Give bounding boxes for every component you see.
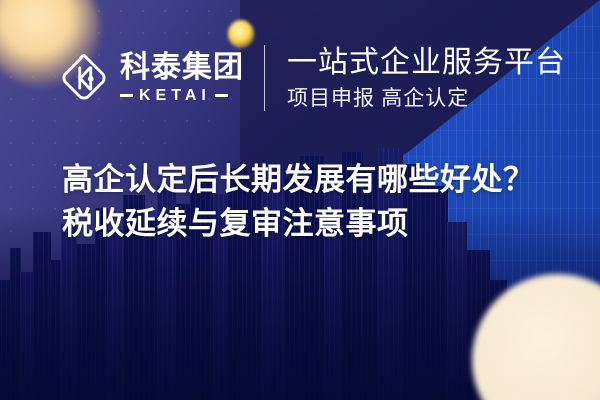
headline-line-2: 税收延续与复审注意事项: [62, 202, 535, 246]
company-logo[interactable]: 科泰集团 KETAI: [57, 51, 244, 105]
vertical-divider: [264, 45, 265, 111]
logo-dash-right: [215, 94, 228, 97]
logo-name-cn: 科泰集团: [120, 53, 244, 83]
headline: 高企认定后长期发展有哪些好处？ 税收延续与复审注意事项: [62, 158, 535, 246]
tagline: 一站式企业服务平台 项目申报 高企认定: [287, 48, 566, 109]
logo-name-en-row: KETAI: [120, 88, 244, 104]
tagline-main: 一站式企业服务平台: [287, 48, 566, 78]
tagline-sub: 项目申报 高企认定: [287, 88, 566, 109]
headline-line-1: 高企认定后长期发展有哪些好处？: [62, 162, 535, 197]
promotional-banner: 科泰集团 KETAI 一站式企业服务平台 项目申报 高企认定 高企认定后长期发展…: [0, 0, 600, 400]
logo-name-en: KETAI: [139, 88, 211, 104]
logo-dash-left: [120, 94, 133, 97]
banner-header: 科泰集团 KETAI 一站式企业服务平台 项目申报 高企认定: [57, 40, 566, 116]
ketai-kt-monogram-diamond-icon: [57, 51, 111, 105]
